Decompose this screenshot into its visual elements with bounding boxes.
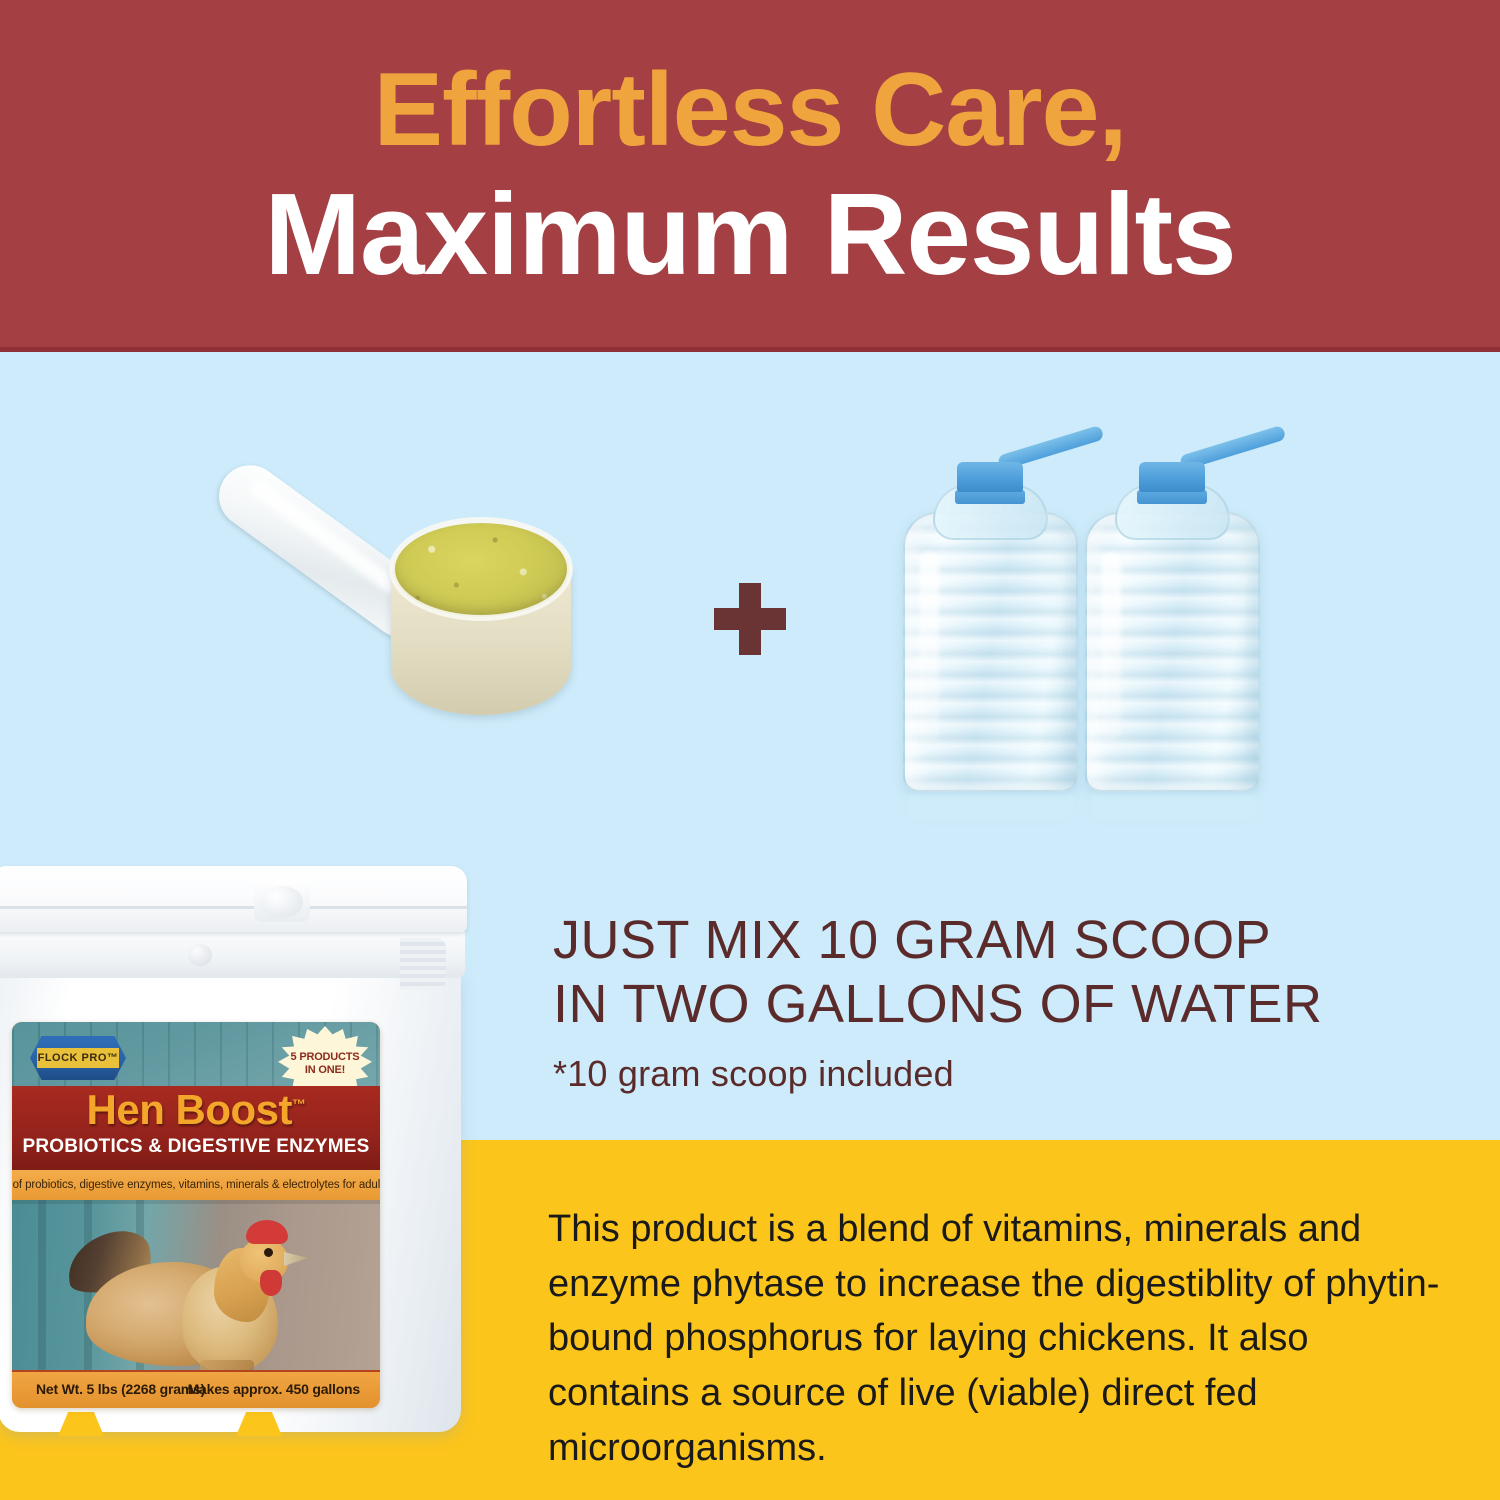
bottle-neck-ring [955, 490, 1025, 504]
hen-eye [264, 1248, 273, 1257]
product-title: Hen Boost™ [12, 1088, 380, 1132]
plus-icon [714, 583, 786, 655]
water-bottle [1085, 462, 1260, 792]
headline-primary: Effortless Care, [0, 58, 1500, 162]
trademark-symbol: ™ [292, 1096, 306, 1112]
water-bottle [903, 462, 1078, 792]
water-bottles-image [895, 440, 1285, 830]
header-banner: Effortless Care, Maximum Results [0, 0, 1500, 352]
bottle-cap [1139, 462, 1205, 492]
product-subtitle: PROBIOTICS & DIGESTIVE ENZYMES [12, 1136, 380, 1158]
product-infographic: Effortless Care, Maximum Results [0, 0, 1500, 1500]
mix-instruction-line-1: JUST MIX 10 GRAM SCOOP [553, 908, 1483, 972]
product-label: FLOCK PRO™ 5 PRODUCTS IN ONE! Hen Boost™… [12, 1022, 380, 1408]
net-weight-text: Net Wt. 5 lbs (2268 grams) [36, 1381, 205, 1397]
bucket-latch [254, 880, 310, 922]
label-tagline-band: A blend of probiotics, digestive enzymes… [12, 1170, 380, 1200]
label-footer-band: Net Wt. 5 lbs (2268 grams) Makes approx.… [12, 1370, 380, 1408]
mix-instruction-footnote: *10 gram scoop included [553, 1053, 1483, 1095]
plus-icon-vertical-bar [739, 583, 761, 655]
bottle-highlight [919, 552, 939, 742]
bottle-reflection [909, 794, 1074, 824]
mixing-instructions: JUST MIX 10 GRAM SCOOP IN TWO GALLONS OF… [553, 908, 1483, 1095]
flock-pro-badge: FLOCK PRO™ [30, 1036, 126, 1080]
barn-plank [38, 1200, 46, 1372]
bucket-vent [188, 944, 212, 966]
mix-instruction-line-2: IN TWO GALLONS OF WATER [553, 972, 1483, 1036]
hen-illustration [64, 1218, 314, 1372]
flock-pro-badge-text: FLOCK PRO™ [37, 1048, 119, 1068]
yield-text: Makes approx. 450 gallons [188, 1381, 360, 1397]
bucket-rim [0, 926, 465, 978]
bottle-cap [957, 462, 1023, 492]
description-text: This product is a blend of vitamins, min… [548, 1202, 1448, 1476]
hen-wattle [260, 1270, 282, 1296]
bucket-side-grip [400, 938, 446, 990]
product-title-text: Hen Boost [87, 1086, 293, 1133]
bucket-lid [0, 866, 467, 932]
starburst-line-1: 5 PRODUCTS [291, 1051, 360, 1064]
bottle-highlight [1101, 552, 1121, 742]
bottle-neck-ring [1137, 490, 1207, 504]
product-tagline: A blend of probiotics, digestive enzymes… [12, 1179, 380, 1191]
hen-beak [284, 1252, 308, 1266]
label-title-band: Hen Boost™ PROBIOTICS & DIGESTIVE ENZYME… [12, 1086, 380, 1170]
bottle-reflection [1091, 794, 1256, 824]
headline-secondary: Maximum Results [0, 176, 1500, 292]
starburst-line-2: IN ONE! [305, 1064, 345, 1077]
label-hen-photo [12, 1200, 380, 1372]
scoop-cup-rim [389, 517, 573, 621]
hen-comb [246, 1220, 288, 1244]
measuring-scoop-image [195, 425, 615, 755]
